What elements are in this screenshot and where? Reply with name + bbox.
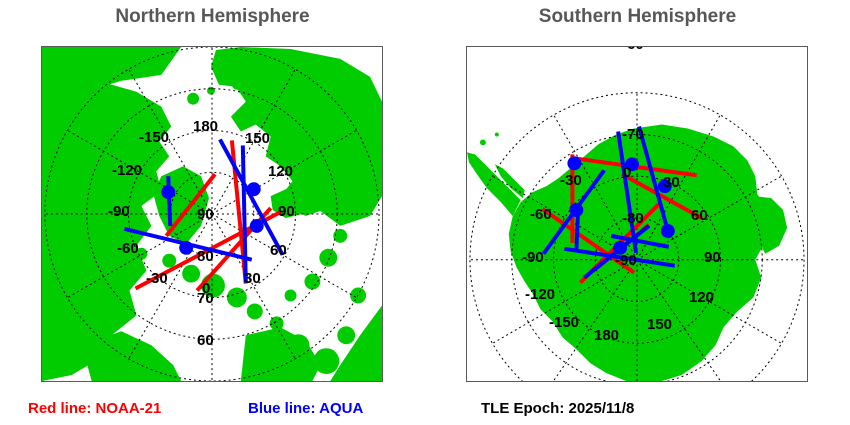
lat-label-north-60: 60 (197, 333, 214, 348)
legend-blue-line: Blue line: AQUA (248, 400, 363, 417)
lon-label-south-m30: -30 (560, 173, 582, 188)
lon-label-south-30: 30 (663, 175, 680, 190)
lat-label-north-90: 90 (197, 207, 214, 222)
page-title-south: Southern Hemisphere (425, 6, 850, 28)
lon-label-south-m90: -90 (522, 250, 544, 265)
lon-label-north-m120: -120 (112, 163, 142, 178)
snos-polar-plot-page: Northern Hemisphere (0, 0, 850, 425)
lon-label-north-m60: -60 (117, 241, 139, 256)
lon-label-north-150: 150 (245, 131, 270, 146)
lon-label-south-60: 60 (691, 208, 708, 223)
plot-frame-north: 90 80 70 60 180 150 120 90 60 30 0 -30 -… (41, 46, 383, 382)
lon-label-south-120: 120 (689, 290, 714, 305)
lat-label-south-m70: -70 (622, 127, 644, 142)
lat-label-north-80: 80 (197, 249, 214, 264)
lon-label-north-m90: -90 (108, 204, 130, 219)
panel-southern-hemisphere: Southern Hemisphere (425, 0, 850, 425)
legend-red-line: Red line: NOAA-21 (28, 400, 161, 417)
lat-label-south-m60: -60 (622, 46, 644, 52)
lon-label-north-180: 180 (193, 119, 218, 134)
lon-label-south-m60: -60 (530, 207, 552, 222)
lon-label-north-30: 30 (244, 271, 261, 286)
page-title-north: Northern Hemisphere (0, 6, 425, 28)
lon-label-south-m150: -150 (549, 315, 579, 330)
lon-label-north-120: 120 (268, 164, 293, 179)
lon-label-south-m120: -120 (525, 287, 555, 302)
panel-northern-hemisphere: Northern Hemisphere (0, 0, 425, 425)
lon-label-south-180: 180 (594, 328, 619, 343)
lat-label-south-m90: -90 (615, 253, 637, 268)
lon-label-north-m30: -30 (146, 271, 168, 286)
lon-label-north-90: 90 (278, 204, 295, 219)
lon-label-south-150: 150 (647, 317, 672, 332)
plot-frame-south: -90 -80 -70 -60 0 30 60 90 120 150 180 -… (466, 46, 808, 382)
lon-label-south-0: 0 (623, 165, 631, 180)
lon-label-north-m150: -150 (139, 130, 169, 145)
lon-label-south-90: 90 (704, 250, 721, 265)
legend-tle-epoch: TLE Epoch: 2025/11/8 (481, 400, 634, 417)
lon-label-north-60: 60 (270, 243, 287, 258)
lon-label-north-0: 0 (202, 281, 210, 296)
lat-label-south-m80: -80 (622, 211, 644, 226)
